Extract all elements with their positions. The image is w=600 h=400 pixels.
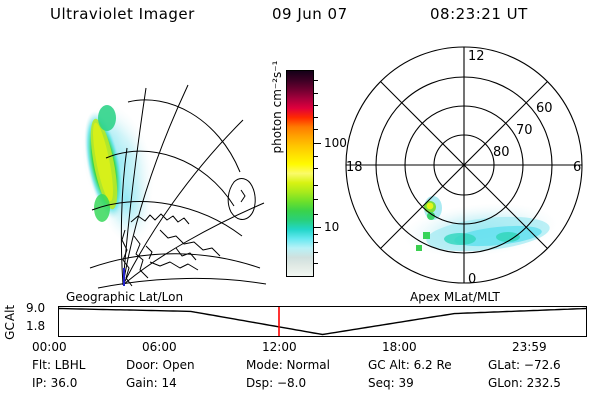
colorbar-minor-tick (313, 129, 318, 130)
strip-yaxis-label-gc: GC (3, 317, 17, 345)
instrument-title: Ultraviolet Imager (50, 5, 195, 23)
observation-date: 09 Jun 07 (272, 5, 348, 23)
strip-ytick-high: 9.0 (26, 301, 45, 315)
left-panel-title: Geographic Lat/Lon (66, 290, 183, 304)
status-gc-alt: GC Alt: 6.2 Re (368, 358, 452, 372)
mlt-label-18: 18 (346, 160, 363, 175)
polar-panel-title: Apex MLat/MLT (410, 290, 500, 304)
colorbar-major-tick (313, 143, 321, 144)
status-glon: GLon: 232.5 (488, 376, 561, 390)
status-door: Door: Open (126, 358, 195, 372)
colorbar-minor-tick (313, 117, 318, 118)
colorbar-minor-tick (313, 214, 318, 215)
mlt-label-0: 0 (468, 272, 476, 287)
status-dsp: Dsp: −8.0 (246, 376, 306, 390)
colorbar-major-tick (313, 227, 321, 228)
status-glat: GLat: −72.6 (488, 358, 561, 372)
status-filter: Flt: LBHL (32, 358, 85, 372)
polar-mlat-mlt-panel: 12 6 0 18 60 70 80 (330, 40, 598, 290)
colorbar-minor-tick (313, 263, 318, 264)
colorbar-minor-tick (313, 168, 318, 169)
mlat-label-70: 70 (516, 123, 533, 138)
gc-altitude-strip-chart: Geographic Lat/Lon Apex MLat/MLT Alt GC … (0, 292, 600, 352)
geographic-content (71, 85, 266, 288)
observation-time: 08:23:21 UT (430, 5, 528, 23)
strip-ytick-low: 1.8 (26, 319, 45, 333)
colorbar-minor-tick (313, 80, 318, 81)
colorbar-axis-label: photon cm⁻²s⁻¹ (270, 32, 284, 182)
colorbar-minor-tick (313, 105, 318, 106)
colorbar-minor-tick (313, 242, 318, 243)
strip-xtick-0: 00:00 (32, 340, 67, 354)
gc-altitude-curve (59, 309, 586, 335)
geographic-plot-svg (28, 40, 268, 290)
status-mode: Mode: Normal (246, 358, 330, 372)
colorbar-minor-tick (313, 156, 318, 157)
strip-xtick-3: 18:00 (382, 340, 417, 354)
mlt-spokes (346, 47, 582, 283)
colorbar-minor-tick (313, 93, 318, 94)
status-footer: Flt: LBHL IP: 36.0 Door: Open Gain: 14 M… (0, 358, 600, 400)
mlt-label-6: 6 (573, 160, 581, 175)
colorbar-minor-tick (313, 185, 318, 186)
strip-plot-box (58, 306, 587, 337)
strip-plot-svg (59, 307, 586, 336)
strip-xtick-2: 12:00 (262, 340, 297, 354)
strip-xtick-1: 06:00 (142, 340, 177, 354)
colorbar-minor-tick (313, 234, 318, 235)
uvi-summary-plot: Ultraviolet Imager 09 Jun 07 08:23:21 UT (0, 0, 600, 400)
geographic-image-panel (28, 40, 268, 290)
auroral-oval-emission (400, 196, 560, 263)
polar-plot-svg: 12 6 0 18 60 70 80 (330, 40, 598, 290)
mlt-label-12: 12 (468, 49, 485, 64)
strip-xtick-4: 23:59 (512, 340, 547, 354)
colorbar-box (286, 70, 314, 277)
mlat-label-80: 80 (493, 145, 510, 160)
status-seq: Seq: 39 (368, 376, 414, 390)
mlat-label-60: 60 (536, 101, 553, 116)
colorbar-gradient (287, 71, 313, 276)
status-ip: IP: 36.0 (32, 376, 77, 390)
colorbar-minor-tick (313, 252, 318, 253)
colorbar-minor-tick (313, 199, 318, 200)
status-gain: Gain: 14 (126, 376, 177, 390)
header: Ultraviolet Imager 09 Jun 07 08:23:21 UT (0, 5, 600, 29)
